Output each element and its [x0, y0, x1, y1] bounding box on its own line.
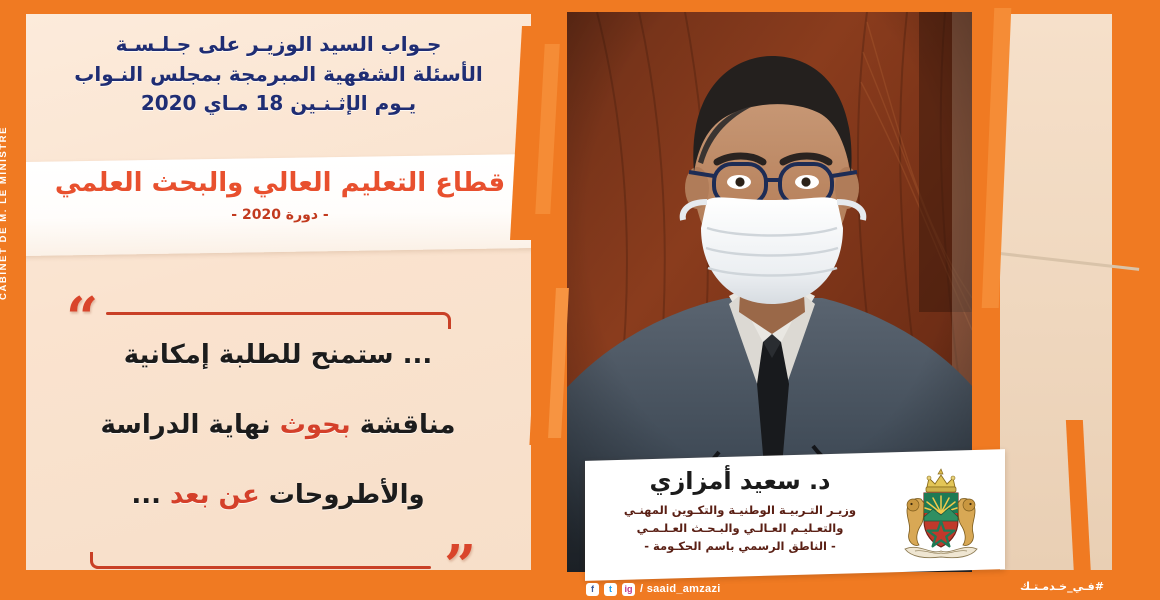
minister-role: وزيـر التـربيـة الوطنيـة والتكـوين المهن…	[597, 502, 883, 555]
facebook-icon[interactable]: f	[586, 583, 599, 596]
quote-rule-top	[106, 312, 441, 315]
coat-of-arms-svg	[891, 465, 991, 565]
instagram-icon[interactable]: ig	[622, 583, 635, 596]
quote-line-1: ... ستمنح للطلبة إمكانية	[58, 340, 498, 370]
quote-line-2-highlight: بحوث	[280, 410, 351, 440]
minister-name-card: د. سعيد أمزازي وزيـر التـربيـة الوطنيـة …	[585, 449, 1005, 581]
twitter-icon[interactable]: t	[604, 583, 617, 596]
quote-close-mark: ”	[444, 538, 476, 570]
quote-line-3-highlight: عن بعد	[170, 480, 260, 510]
moroccan-coat-of-arms-icon	[891, 465, 991, 565]
header-line-2: الأسئلة الشفهية المبرمجة بمجلس النـواب	[26, 60, 531, 90]
minister-name: د. سعيد أمزازي	[597, 467, 883, 495]
quote-line-2: مناقشة بحوث نهاية الدراسة	[58, 410, 498, 440]
quote-rule-bottom	[96, 566, 431, 569]
quote-line-1-text: ... ستمنح للطلبة إمكانية	[124, 340, 432, 370]
quote-line-3-text-b: ...	[131, 480, 170, 510]
quote-open-mark: “	[66, 290, 98, 346]
quote-line-3: والأطروحات عن بعد ...	[58, 480, 498, 510]
right-beige-field	[1000, 14, 1112, 570]
sector-banner: قطاع التعليم العالي والبحث العلمي - دورة…	[26, 154, 531, 256]
quote-corner-top-right	[434, 312, 451, 329]
social-handle[interactable]: / saaid_amzazi	[640, 583, 721, 595]
quote-block: “ ... ستمنح للطلبة إمكانية مناقشة بحوث ن…	[26, 288, 531, 570]
quote-line-2-text-a: مناقشة	[351, 410, 456, 440]
cabinet-vertical-label: CABINET DE M. LE MINISTRE	[0, 50, 9, 300]
campaign-hashtag: #فـي_خـدمـتـك	[1020, 580, 1104, 593]
role-line-2: والتعـليـم العـالـي والبـحـث العـلـمـي	[597, 520, 883, 538]
role-line-3: - الناطق الرسمي باسم الحكـومة -	[597, 538, 883, 556]
quote-line-3-text-a: والأطروحات	[260, 480, 425, 510]
session-header: جـواب السيد الوزيـر على جـلـسـة الأسئلة …	[26, 30, 531, 119]
name-card-text: د. سعيد أمزازي وزيـر التـربيـة الوطنيـة …	[597, 467, 883, 555]
poster-canvas: CABINET DE M. LE MINISTRE جـواب السيد ال…	[0, 0, 1160, 600]
decor-seam-line	[1000, 252, 1139, 271]
session-year: - دورة 2020 -	[26, 207, 531, 223]
header-line-1: جـواب السيد الوزيـر على جـلـسـة	[26, 30, 531, 60]
left-content-panel: جـواب السيد الوزيـر على جـلـسـة الأسئلة …	[26, 14, 531, 570]
header-line-3: يـوم الإثـنـين 18 مـاي 2020	[26, 89, 531, 119]
sector-title: قطاع التعليم العالي والبحث العلمي	[26, 168, 531, 198]
quote-line-2-text-b: نهاية الدراسة	[101, 410, 280, 440]
role-line-1: وزيـر التـربيـة الوطنيـة والتكـوين المهن…	[597, 502, 883, 520]
